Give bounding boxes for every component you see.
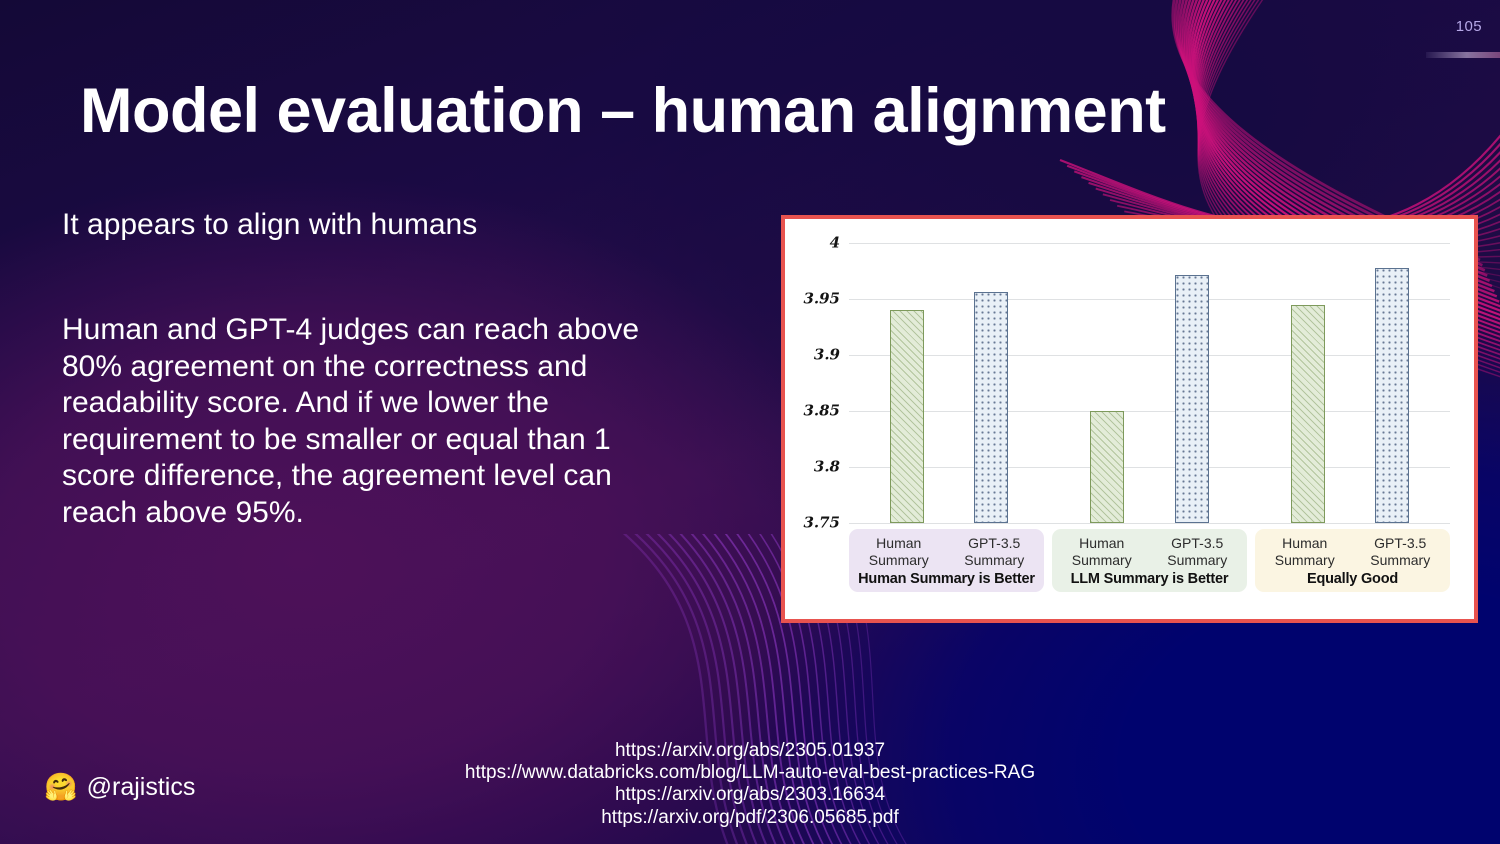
chart-y-tick-label: 3.9 xyxy=(814,346,840,364)
chart-x-category-label: HumanSummary xyxy=(1054,535,1150,568)
chart-gridline: 3.75 xyxy=(849,523,1450,524)
chart-y-tick-label: 3.8 xyxy=(814,458,840,476)
lead-paragraph: It appears to align with humans xyxy=(62,205,682,246)
chart-plot-area: 3.753.83.853.93.954 xyxy=(849,243,1450,523)
page-title: Model evaluation – human alignment xyxy=(80,78,1350,144)
chart-bar-slot xyxy=(1276,243,1340,523)
chart-bar-slot xyxy=(1075,243,1139,523)
footer-source-links: https://arxiv.org/abs/2305.01937https://… xyxy=(0,740,1500,829)
body-paragraph: Human and GPT-4 judges can reach above 8… xyxy=(62,312,662,532)
slide-canvas: 105 Model evaluation – human alignment I… xyxy=(0,0,1500,844)
chart-bar-slot xyxy=(959,243,1023,523)
chart-bar-slot xyxy=(1160,243,1224,523)
page-number-rule xyxy=(1426,52,1500,58)
chart-y-tick-label: 3.95 xyxy=(803,290,840,308)
page-number: 105 xyxy=(1456,18,1482,35)
footer-link[interactable]: https://arxiv.org/pdf/2306.05685.pdf xyxy=(0,807,1500,829)
chart-bar xyxy=(1090,411,1124,523)
chart-bar xyxy=(890,310,924,523)
chart-x-group-label: LLM Summary is Better xyxy=(1054,571,1245,587)
author-handle: 🤗 @rajistics xyxy=(44,773,195,802)
chart-x-category-label: HumanSummary xyxy=(851,535,947,568)
chart-x-group: HumanSummaryGPT-3.5SummaryHuman Summary … xyxy=(849,529,1044,592)
chart-x-group: HumanSummaryGPT-3.5SummaryEqually Good xyxy=(1255,529,1450,592)
chart-x-category-label: HumanSummary xyxy=(1257,535,1353,568)
chart-bar xyxy=(1291,305,1325,523)
chart-bar xyxy=(1375,268,1409,523)
chart-bar xyxy=(974,292,1008,523)
footer-link[interactable]: https://arxiv.org/abs/2303.16634 xyxy=(0,784,1500,806)
chart-bar-slot xyxy=(875,243,939,523)
footer-link[interactable]: https://www.databricks.com/blog/LLM-auto… xyxy=(0,762,1500,784)
chart-bar-slot xyxy=(1360,243,1424,523)
chart-bars xyxy=(849,243,1450,523)
chart-x-category-label: GPT-3.5Summary xyxy=(1150,535,1246,568)
chart-y-tick-label: 4 xyxy=(830,234,840,252)
hugging-face-icon: 🤗 xyxy=(44,774,78,801)
chart-x-group-label: Equally Good xyxy=(1257,571,1448,587)
chart-x-group: HumanSummaryGPT-3.5SummaryLLM Summary is… xyxy=(1052,529,1247,592)
chart-y-tick-label: 3.75 xyxy=(803,514,840,532)
chart-x-axis-groups: HumanSummaryGPT-3.5SummaryHuman Summary … xyxy=(849,529,1450,592)
chart-x-category-label: GPT-3.5Summary xyxy=(947,535,1043,568)
chart-x-category-label: GPT-3.5Summary xyxy=(1353,535,1449,568)
chart-y-tick-label: 3.85 xyxy=(803,402,840,420)
chart-inner: 3.753.83.853.93.954 HumanSummaryGPT-3.5S… xyxy=(785,219,1474,619)
chart-x-group-label: Human Summary is Better xyxy=(851,571,1042,587)
chart-bar xyxy=(1175,275,1209,523)
footer-link[interactable]: https://arxiv.org/abs/2305.01937 xyxy=(0,740,1500,762)
handle-label: @rajistics xyxy=(87,773,196,802)
chart-card: 3.753.83.853.93.954 HumanSummaryGPT-3.5S… xyxy=(781,215,1478,623)
